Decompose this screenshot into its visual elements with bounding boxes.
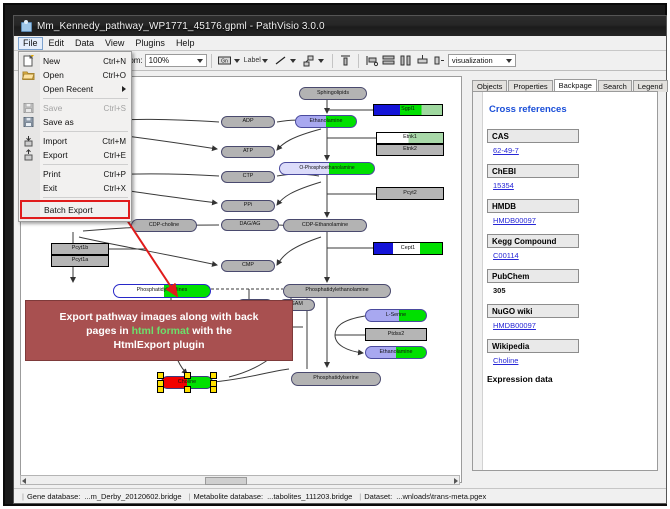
resize-handle-se[interactable] — [210, 386, 217, 393]
node-etnk2[interactable]: Etnk2 — [376, 144, 444, 156]
node-ethanolamine-top[interactable]: Ethanolamine — [295, 115, 357, 128]
import-icon — [22, 135, 35, 147]
menu-bar: File Edit Data View Plugins Help — [14, 36, 666, 51]
menu-item-export[interactable]: Export Ctrl+E — [19, 148, 131, 162]
menu-item-import[interactable]: Import Ctrl+M — [19, 134, 131, 148]
resize-handle-nw[interactable] — [157, 372, 164, 379]
status-metabolite-database-label: Metabolite database: — [193, 492, 263, 501]
menu-data[interactable]: Data — [70, 37, 99, 50]
node-cdp-ethanolamine[interactable]: CDP-Ethanolamine — [283, 219, 367, 232]
status-divider: | — [22, 492, 24, 501]
node-etnk1[interactable]: Etnk1 — [376, 132, 444, 144]
xref-value-wikipedia[interactable]: Choline — [493, 356, 651, 365]
node-phosphatidylserine[interactable]: Phosphatidylserine — [291, 372, 381, 386]
pathvisio-app-icon — [20, 20, 32, 32]
node-ctp[interactable]: CTP — [221, 171, 275, 183]
xref-source-chebi: ChEBI — [487, 164, 579, 178]
menu-item-print[interactable]: Print Ctrl+P — [19, 167, 131, 181]
menu-separator — [43, 164, 128, 165]
save-as-icon — [22, 116, 35, 128]
xref-source-nugo-wiki: NuGO wiki — [487, 304, 579, 318]
toolbar-divider — [358, 54, 359, 68]
zoom-select[interactable]: 100% — [145, 54, 207, 67]
svg-text:Gn: Gn — [221, 59, 228, 65]
node-cept1[interactable]: Cept1 — [373, 242, 443, 255]
node-pcyt2[interactable]: Pcyt2 — [376, 187, 444, 200]
ungroup-icon[interactable] — [432, 53, 447, 68]
status-dataset-value: ...wnloads\trans-meta.pgex — [396, 492, 486, 501]
status-metabolite-database-value: ...tabolites_111203.bridge — [267, 492, 352, 501]
menu-item-new-accel: Ctrl+N — [103, 57, 126, 66]
toolbar-divider — [332, 54, 333, 68]
window-outer-frame: Mm_Kennedy_pathway_WP1771_45176.gpml - P… — [3, 3, 667, 506]
xref-value-nugo-wiki[interactable]: HMDB00097 — [493, 321, 651, 330]
callout-line2-b: with the — [189, 325, 232, 337]
scroll-right-icon[interactable] — [454, 478, 458, 484]
open-folder-icon — [22, 69, 35, 81]
node-pcyt1b[interactable]: Pcyt1b — [51, 243, 109, 255]
xref-value-pubchem: 305 — [493, 286, 651, 295]
backpage-content: Cross references CAS 62-49-7 ChEBI 15354… — [483, 92, 657, 470]
shape-icon[interactable] — [301, 53, 316, 68]
backpage-scrollbar[interactable] — [473, 92, 483, 470]
stack-center-icon[interactable] — [381, 53, 396, 68]
menu-item-batch-export-label: Batch Export — [44, 205, 93, 215]
align-top-icon[interactable] — [338, 53, 353, 68]
menu-item-save-accel: Ctrl+S — [104, 104, 126, 113]
status-gene-database-value: ...m_Derby_20120602.bridge — [84, 492, 181, 501]
menu-item-print-label: Print — [43, 169, 60, 179]
menu-plugins[interactable]: Plugins — [130, 37, 170, 50]
menu-item-open-recent[interactable]: Open Recent — [19, 82, 131, 96]
chevron-down-icon — [197, 59, 203, 63]
node-cmp[interactable]: CMP — [221, 260, 275, 272]
menu-item-open-accel: Ctrl+O — [103, 71, 126, 80]
save-disk-icon — [22, 102, 35, 114]
xref-value-chebi[interactable]: 15354 — [493, 181, 651, 190]
line-icon[interactable] — [273, 53, 288, 68]
node-ethanolamine-bottom[interactable]: Ethanolamine — [365, 346, 427, 359]
node-phosphatidylethanolamine[interactable]: Phosphatidylethanolamine — [283, 284, 391, 298]
chevron-down-icon — [506, 59, 512, 63]
new-file-icon — [22, 55, 35, 67]
menu-file[interactable]: File — [18, 37, 43, 50]
menu-separator — [43, 197, 128, 198]
menu-item-save-as[interactable]: Save as — [19, 115, 131, 129]
node-phosphatidylcholines[interactable]: Phosphatidylcholines — [113, 284, 211, 298]
node-l-serine[interactable]: L-Serine — [365, 309, 427, 322]
application-window: Mm_Kennedy_pathway_WP1771_45176.gpml - P… — [13, 15, 667, 504]
xref-value-cas[interactable]: 62-49-7 — [493, 146, 651, 155]
status-divider: | — [189, 492, 191, 501]
menu-item-save-as-label: Save as — [43, 117, 74, 127]
menu-item-export-label: Export — [43, 150, 68, 160]
distribute-columns-icon[interactable] — [398, 53, 413, 68]
xref-value-kegg-compound[interactable]: C00114 — [493, 251, 651, 260]
menu-item-open-recent-label: Open Recent — [43, 84, 93, 94]
menu-item-new-label: New — [43, 56, 60, 66]
title-bar: Mm_Kennedy_pathway_WP1771_45176.gpml - P… — [14, 16, 666, 36]
menu-item-save: Save Ctrl+S — [19, 101, 131, 115]
menu-item-open[interactable]: Open Ctrl+O — [19, 68, 131, 82]
export-icon — [22, 149, 35, 161]
cross-references-heading: Cross references — [489, 104, 651, 115]
menu-help[interactable]: Help — [171, 37, 200, 50]
line-dropdown-icon[interactable] — [290, 59, 296, 63]
callout-line2-a: pages in — [86, 325, 132, 337]
menu-item-import-accel: Ctrl+M — [102, 137, 126, 146]
submenu-arrow-icon — [122, 86, 126, 92]
datanode-dropdown-icon[interactable] — [234, 59, 240, 63]
xref-source-hmdb: HMDB — [487, 199, 579, 213]
toolbar-divider — [211, 54, 212, 68]
file-menu-dropdown[interactable]: New Ctrl+N Open Ctrl+O Open Recent Save — [18, 51, 132, 222]
menu-item-exit[interactable]: Exit Ctrl+X — [19, 181, 131, 195]
node-sphingolipids[interactable]: Sphingolipids — [299, 87, 367, 100]
menu-separator — [43, 131, 128, 132]
node-cdp-choline[interactable]: CDP-choline — [131, 219, 197, 232]
resize-handle-n[interactable] — [184, 372, 191, 379]
canvas-horizontal-scrollbar[interactable] — [20, 475, 460, 485]
callout-annotation: Export pathway images along with back pa… — [25, 300, 293, 361]
datanode-icon[interactable]: Gn — [217, 53, 232, 68]
callout-line3: HtmlExport plugin — [114, 339, 205, 351]
menu-item-exit-label: Exit — [43, 183, 57, 193]
menu-item-save-label: Save — [43, 103, 62, 113]
node-sgpl1[interactable]: Sgpl1 — [373, 104, 443, 116]
menu-item-batch-export[interactable]: Batch Export — [20, 200, 130, 219]
status-dataset-label: Dataset: — [364, 492, 392, 501]
label-dropdown-icon[interactable] — [262, 59, 268, 63]
node-ptdss2[interactable]: Ptdss2 — [365, 328, 427, 341]
node-atp[interactable]: ATP — [221, 146, 275, 158]
node-o-phosphoethanolamine[interactable]: O-Phosphoethanolamine — [279, 162, 375, 175]
shape-dropdown-icon[interactable] — [318, 59, 324, 63]
align-left-icon[interactable] — [364, 53, 379, 68]
expression-data-heading: Expression data — [487, 374, 651, 384]
window-title: Mm_Kennedy_pathway_WP1771_45176.gpml - P… — [37, 21, 325, 32]
scroll-left-icon[interactable] — [22, 478, 26, 484]
side-panel: Objects Properties Backpage Search Legen… — [464, 71, 664, 477]
backpage-panel: Cross references CAS 62-49-7 ChEBI 15354… — [472, 91, 658, 471]
visualization-value: visualization — [452, 56, 493, 65]
scroll-thumb[interactable] — [205, 477, 247, 485]
status-divider: | — [359, 492, 361, 501]
group-icon[interactable] — [415, 53, 430, 68]
xref-source-pubchem: PubChem — [487, 269, 579, 283]
node-diacylglycerol[interactable]: DAG/AG — [221, 219, 279, 231]
label-tool-label[interactable]: Label — [244, 57, 261, 64]
resize-handle-s[interactable] — [184, 386, 191, 393]
callout-highlight: html format — [132, 325, 190, 337]
menu-item-new[interactable]: New Ctrl+N — [19, 54, 131, 68]
zoom-value: 100% — [149, 56, 169, 65]
resize-handle-sw[interactable] — [157, 386, 164, 393]
menu-separator — [43, 98, 128, 99]
callout-line1: Export pathway images along with back — [60, 311, 259, 323]
menu-item-print-accel: Ctrl+P — [104, 170, 126, 179]
xref-source-cas: CAS — [487, 129, 579, 143]
menu-item-exit-accel: Ctrl+X — [104, 184, 126, 193]
menu-item-import-label: Import — [43, 136, 67, 146]
node-adp[interactable]: ADP — [221, 116, 275, 128]
xref-source-wikipedia: Wikipedia — [487, 339, 579, 353]
xref-value-hmdb[interactable]: HMDB00097 — [493, 216, 651, 225]
visualization-select[interactable]: visualization — [448, 54, 516, 67]
node-choline-selected[interactable]: Choline — [157, 372, 217, 393]
menu-item-export-accel: Ctrl+E — [104, 151, 126, 160]
menu-item-open-label: Open — [43, 70, 64, 80]
menu-view[interactable]: View — [100, 37, 129, 50]
node-ppi[interactable]: PPi — [221, 200, 275, 212]
resize-handle-ne[interactable] — [210, 372, 217, 379]
node-pcyt1a[interactable]: Pcyt1a — [51, 255, 109, 267]
status-gene-database-label: Gene database: — [27, 492, 80, 501]
status-bar: | Gene database: ...m_Derby_20120602.bri… — [14, 488, 666, 503]
screenshot-root: Mm_Kennedy_pathway_WP1771_45176.gpml - P… — [0, 0, 670, 509]
xref-source-kegg-compound: Kegg Compound — [487, 234, 579, 248]
menu-edit[interactable]: Edit — [44, 37, 70, 50]
